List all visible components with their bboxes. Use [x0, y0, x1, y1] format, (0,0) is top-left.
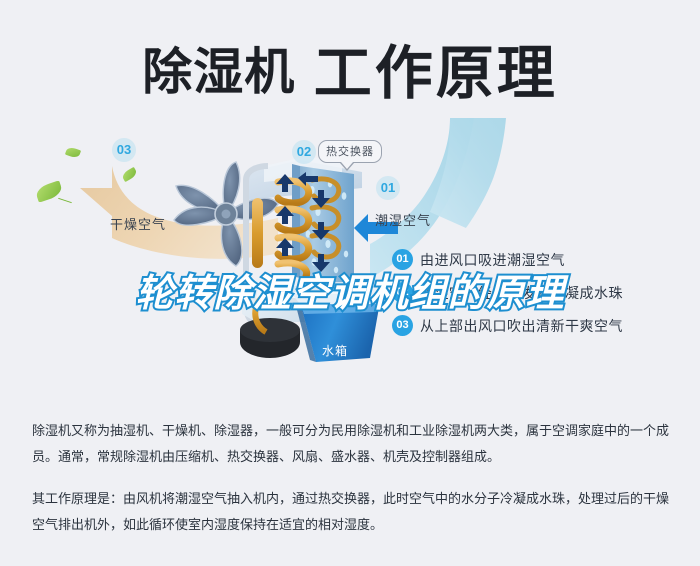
step-label: 从上部出风口吹出清新干爽空气 — [420, 316, 623, 336]
leaf-stem-icon — [58, 198, 72, 203]
water-tank-label: 水箱 — [322, 342, 348, 359]
body-text: 除湿机又称为抽湿机、干燥机、除湿器，一般可分为民用除湿机和工业除湿机两大类，属于… — [32, 418, 680, 538]
diagram-badge-humid-air: 01 — [376, 176, 400, 200]
diagram-badge-dry-air: 03 — [112, 138, 136, 162]
dry-air-label: 干燥空气 — [110, 214, 166, 233]
body-paragraph-1: 除湿机又称为抽湿机、干燥机、除湿器，一般可分为民用除湿机和工业除湿机两大类，属于… — [32, 418, 680, 470]
diagram-badge-heat-exchanger: 02 — [292, 140, 316, 164]
humid-air-label: 潮湿空气 — [375, 210, 431, 229]
watermark-text: 轮转除湿空调机组的原理 — [0, 262, 700, 317]
page-title-part2: 工作原理 — [314, 41, 558, 106]
body-paragraph-2: 其工作原理是：由风机将潮湿空气抽入机内，通过热交换器，此时空气中的水分子冷凝成水… — [32, 486, 680, 538]
page-root: 除湿机 工作原理 — [0, 0, 700, 566]
page-title: 除湿机 工作原理 — [0, 26, 700, 110]
page-title-part1: 除湿机 — [142, 44, 295, 100]
heat-exchanger-callout: 热交换器 — [318, 140, 382, 163]
step-badge: 03 — [392, 315, 413, 336]
